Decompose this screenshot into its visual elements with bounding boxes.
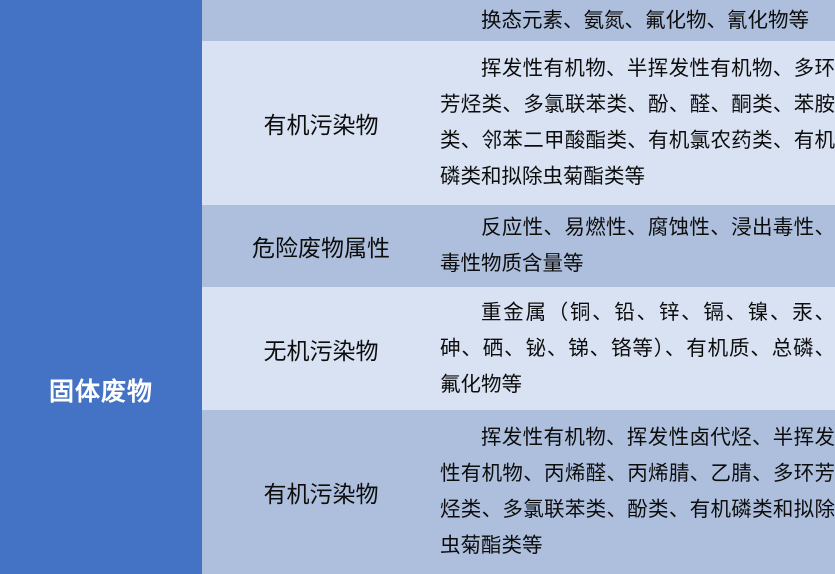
category-label: 无机污染物 xyxy=(202,332,440,366)
detail-cell: 挥发性有机物、挥发性卤代烃、半挥发性有机物、丙烯醛、丙烯腈、乙腈、多环芳烃类、多… xyxy=(440,410,835,574)
detail-cell: 挥发性有机物、半挥发性有机物、多环芳烃类、多氯联苯类、酚、醛、酮类、苯胺类、邻苯… xyxy=(440,41,835,205)
group-label-solid-waste: 固体废物 xyxy=(0,372,202,408)
category-cell xyxy=(202,0,440,41)
group-cell-solid-waste: 固体废物 xyxy=(0,205,202,574)
detail-cell: 换态元素、氨氮、氟化物、氰化物等 xyxy=(440,0,835,41)
detail-cell: 反应性、易燃性、腐蚀性、浸出毒性、毒性物质含量等 xyxy=(440,205,835,287)
group-cell-top xyxy=(0,0,202,205)
pollutant-classification-table: 换态元素、氨氮、氟化物、氰化物等 有机污染物 挥发性有机物、半挥发性有机物、多环… xyxy=(0,0,835,574)
category-cell: 危险废物属性 xyxy=(202,205,440,287)
table-body: 换态元素、氨氮、氟化物、氰化物等 有机污染物 挥发性有机物、半挥发性有机物、多环… xyxy=(0,0,835,574)
category-label: 有机污染物 xyxy=(202,106,440,140)
category-label: 有机污染物 xyxy=(202,475,440,509)
detail-cell: 重金属（铜、铅、锌、镉、镍、汞、砷、硒、铋、锑、铬等）、有机质、总磷、氟化物等 xyxy=(440,287,835,410)
category-label: 危险废物属性 xyxy=(202,229,440,263)
category-cell: 有机污染物 xyxy=(202,41,440,205)
category-cell: 有机污染物 xyxy=(202,410,440,574)
category-cell: 无机污染物 xyxy=(202,287,440,410)
table-row: 换态元素、氨氮、氟化物、氰化物等 xyxy=(0,0,835,41)
table-row: 固体废物 危险废物属性 反应性、易燃性、腐蚀性、浸出毒性、毒性物质含量等 xyxy=(0,205,835,287)
